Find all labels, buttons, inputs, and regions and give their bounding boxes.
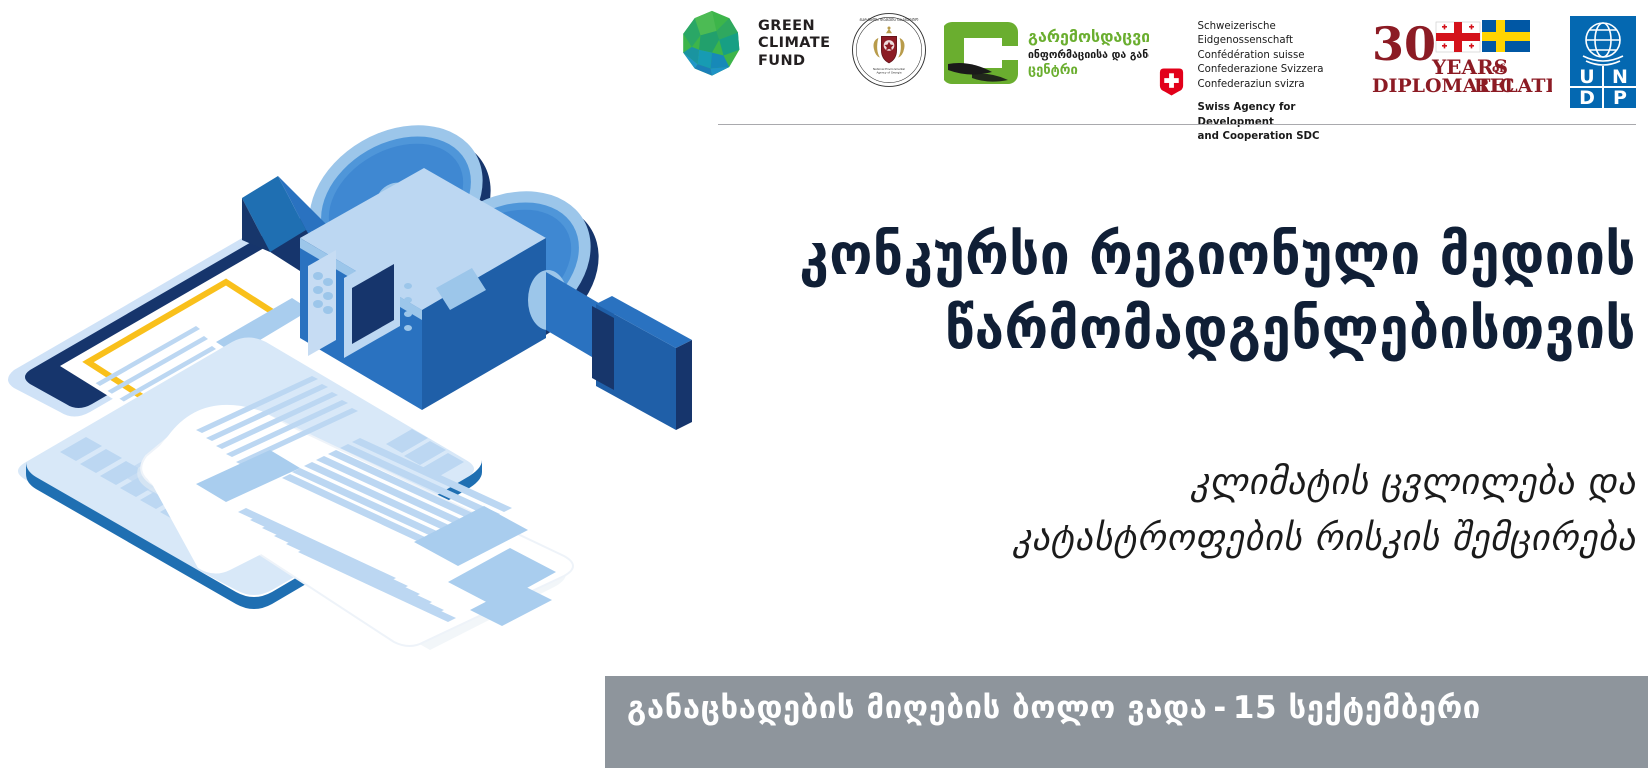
svg-text:ᲒᲐᲠᲔᲛᲝᲡ ᲓᲐᲪᲕᲘᲡ ᲡᲐᲐᲒᲔᲜᲢᲝ: ᲒᲐᲠᲔᲛᲝᲡ ᲓᲐᲪᲕᲘᲡ ᲡᲐᲐᲒᲔᲜᲢᲝ [860, 17, 919, 22]
green-climate-fund-wordmark: GREEN CLIMATE FUND [758, 18, 830, 69]
eiec-mark-icon [944, 22, 1018, 84]
deadline-text: განაცხადების მიღების ბოლო ვადა-15 სექტემ… [605, 676, 1481, 726]
page-title-line-1: კონკურსი რეგიონული მედიის [710, 218, 1636, 292]
logo-30-years-diplomatic-relations: 30 [1370, 8, 1553, 96]
deadline-separator: - [1207, 690, 1232, 726]
logo-ministry-environment-georgia: ᲒᲐᲠᲔᲛᲝᲡ ᲓᲐᲪᲕᲘᲡ ᲡᲐᲐᲒᲔᲜᲢᲝ National Environ… [835, 8, 944, 88]
thirty-numeral: 30 [1372, 17, 1436, 71]
green-climate-fund-icon [676, 8, 748, 80]
header-divider [718, 124, 1636, 125]
svg-text:გარემოსდაცვითი: გარემოსდაცვითი [1028, 27, 1149, 46]
page-title-line-2: წარმომადგენლებისთვის [710, 292, 1636, 366]
eiec-wordmark-sub2: ცენტრი [1028, 63, 1078, 78]
georgia-flag-icon [1436, 22, 1480, 52]
deadline-banner: განაცხადების მიღების ბოლო ვადა-15 სექტემ… [605, 676, 1648, 768]
eiec-wordmark: გარემოსდაცვითი [1028, 27, 1149, 46]
poster-canvas: GREEN CLIMATE FUND ᲒᲐᲠᲔᲛᲝᲡ ᲓᲐᲪᲕᲘᲡ ᲡᲐᲐᲒᲔᲜ… [0, 0, 1648, 768]
svg-text:P: P [1613, 87, 1627, 108]
page-subtitle: კლიმატის ცვლილება და კატასტროფების რისკი… [640, 455, 1636, 567]
swiss-cross-icon [1157, 67, 1186, 97]
swiss-sdc-wordmark: Schweizerische Eidgenossenschaft Confédé… [1198, 20, 1370, 144]
svg-text:ინფორმაციისა და განათლების: ინფორმაციისა და განათლების [1028, 49, 1149, 61]
camera-lens [528, 250, 692, 430]
illustration-isometric-laptop-camera [0, 70, 700, 650]
svg-text:of: of [1492, 62, 1505, 75]
svg-text:30: 30 [1372, 17, 1436, 71]
page-subtitle-line-1: კლიმატის ცვლილება და [640, 455, 1636, 511]
eiec-wordmark-sub: ინფორმაციისა და განათლების [1028, 49, 1149, 61]
deadline-label: განაცხადების მიღების ბოლო ვადა [627, 690, 1207, 726]
svg-text:N: N [1612, 66, 1628, 88]
page-title: კონკურსი რეგიონული მედიის წარმომადგენლებ… [710, 218, 1636, 366]
deadline-date: 15 სექტემბერი [1233, 690, 1481, 726]
logo-environmental-information-education-centre: გარემოსდაცვითი ინფორმაციისა და განათლები… [944, 8, 1157, 92]
logo-undp: U N D P [1553, 8, 1636, 108]
svg-text:D: D [1579, 87, 1595, 108]
undp-icon: U N D P [1570, 16, 1636, 108]
svg-text:RELATIONS: RELATIONS [1474, 75, 1552, 96]
logo-green-climate-fund: GREEN CLIMATE FUND [676, 8, 835, 80]
partner-logos-strip: GREEN CLIMATE FUND ᲒᲐᲠᲔᲛᲝᲡ ᲓᲐᲪᲕᲘᲡ ᲡᲐᲐᲒᲔᲜ… [676, 8, 1636, 108]
sweden-flag-icon [1482, 20, 1530, 52]
svg-text:U: U [1579, 66, 1594, 88]
svg-text:ცენტრი: ცენტრი [1028, 63, 1078, 78]
svg-text:Agency of Georgia: Agency of Georgia [876, 71, 901, 75]
page-subtitle-line-2: კატასტროფების რისკის შემცირება [640, 511, 1636, 567]
national-environmental-agency-icon: ᲒᲐᲠᲔᲛᲝᲡ ᲓᲐᲪᲕᲘᲡ ᲡᲐᲐᲒᲔᲜᲢᲝ National Environ… [851, 12, 927, 88]
